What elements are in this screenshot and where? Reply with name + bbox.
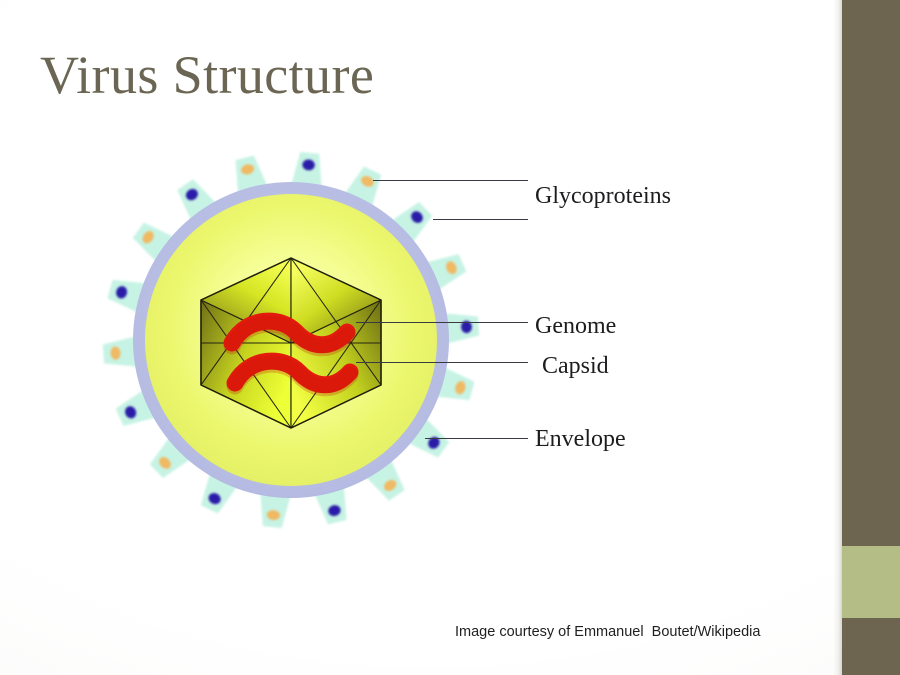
- slide-canvas: Virus Structure: [0, 0, 900, 675]
- label-capsid: Capsid: [542, 353, 609, 380]
- leader-envelope: [425, 438, 528, 439]
- leader-capsid: [356, 362, 528, 363]
- decorative-sidebar: [842, 0, 900, 675]
- sidebar-band-sage-accent: [842, 546, 900, 618]
- label-genome: Genome: [535, 313, 616, 340]
- leader-glycoproteins-navy: [373, 180, 528, 181]
- label-envelope: Envelope: [535, 426, 626, 453]
- virus-diagram: [95, 140, 495, 540]
- sidebar-band-bottom-dark: [842, 618, 900, 675]
- page-title: Virus Structure: [40, 44, 374, 106]
- image-credit: Image courtesy of Emmanuel Boutet/Wikipe…: [455, 624, 760, 640]
- leader-glycoproteins-orange: [433, 219, 528, 220]
- leader-genome: [356, 322, 528, 323]
- sidebar-band-top-dark: [842, 0, 900, 546]
- virus-diagram-svg: [95, 140, 495, 540]
- label-glycoproteins: Glycoproteins: [535, 183, 671, 210]
- sidebar-edge-shadow: [833, 0, 842, 675]
